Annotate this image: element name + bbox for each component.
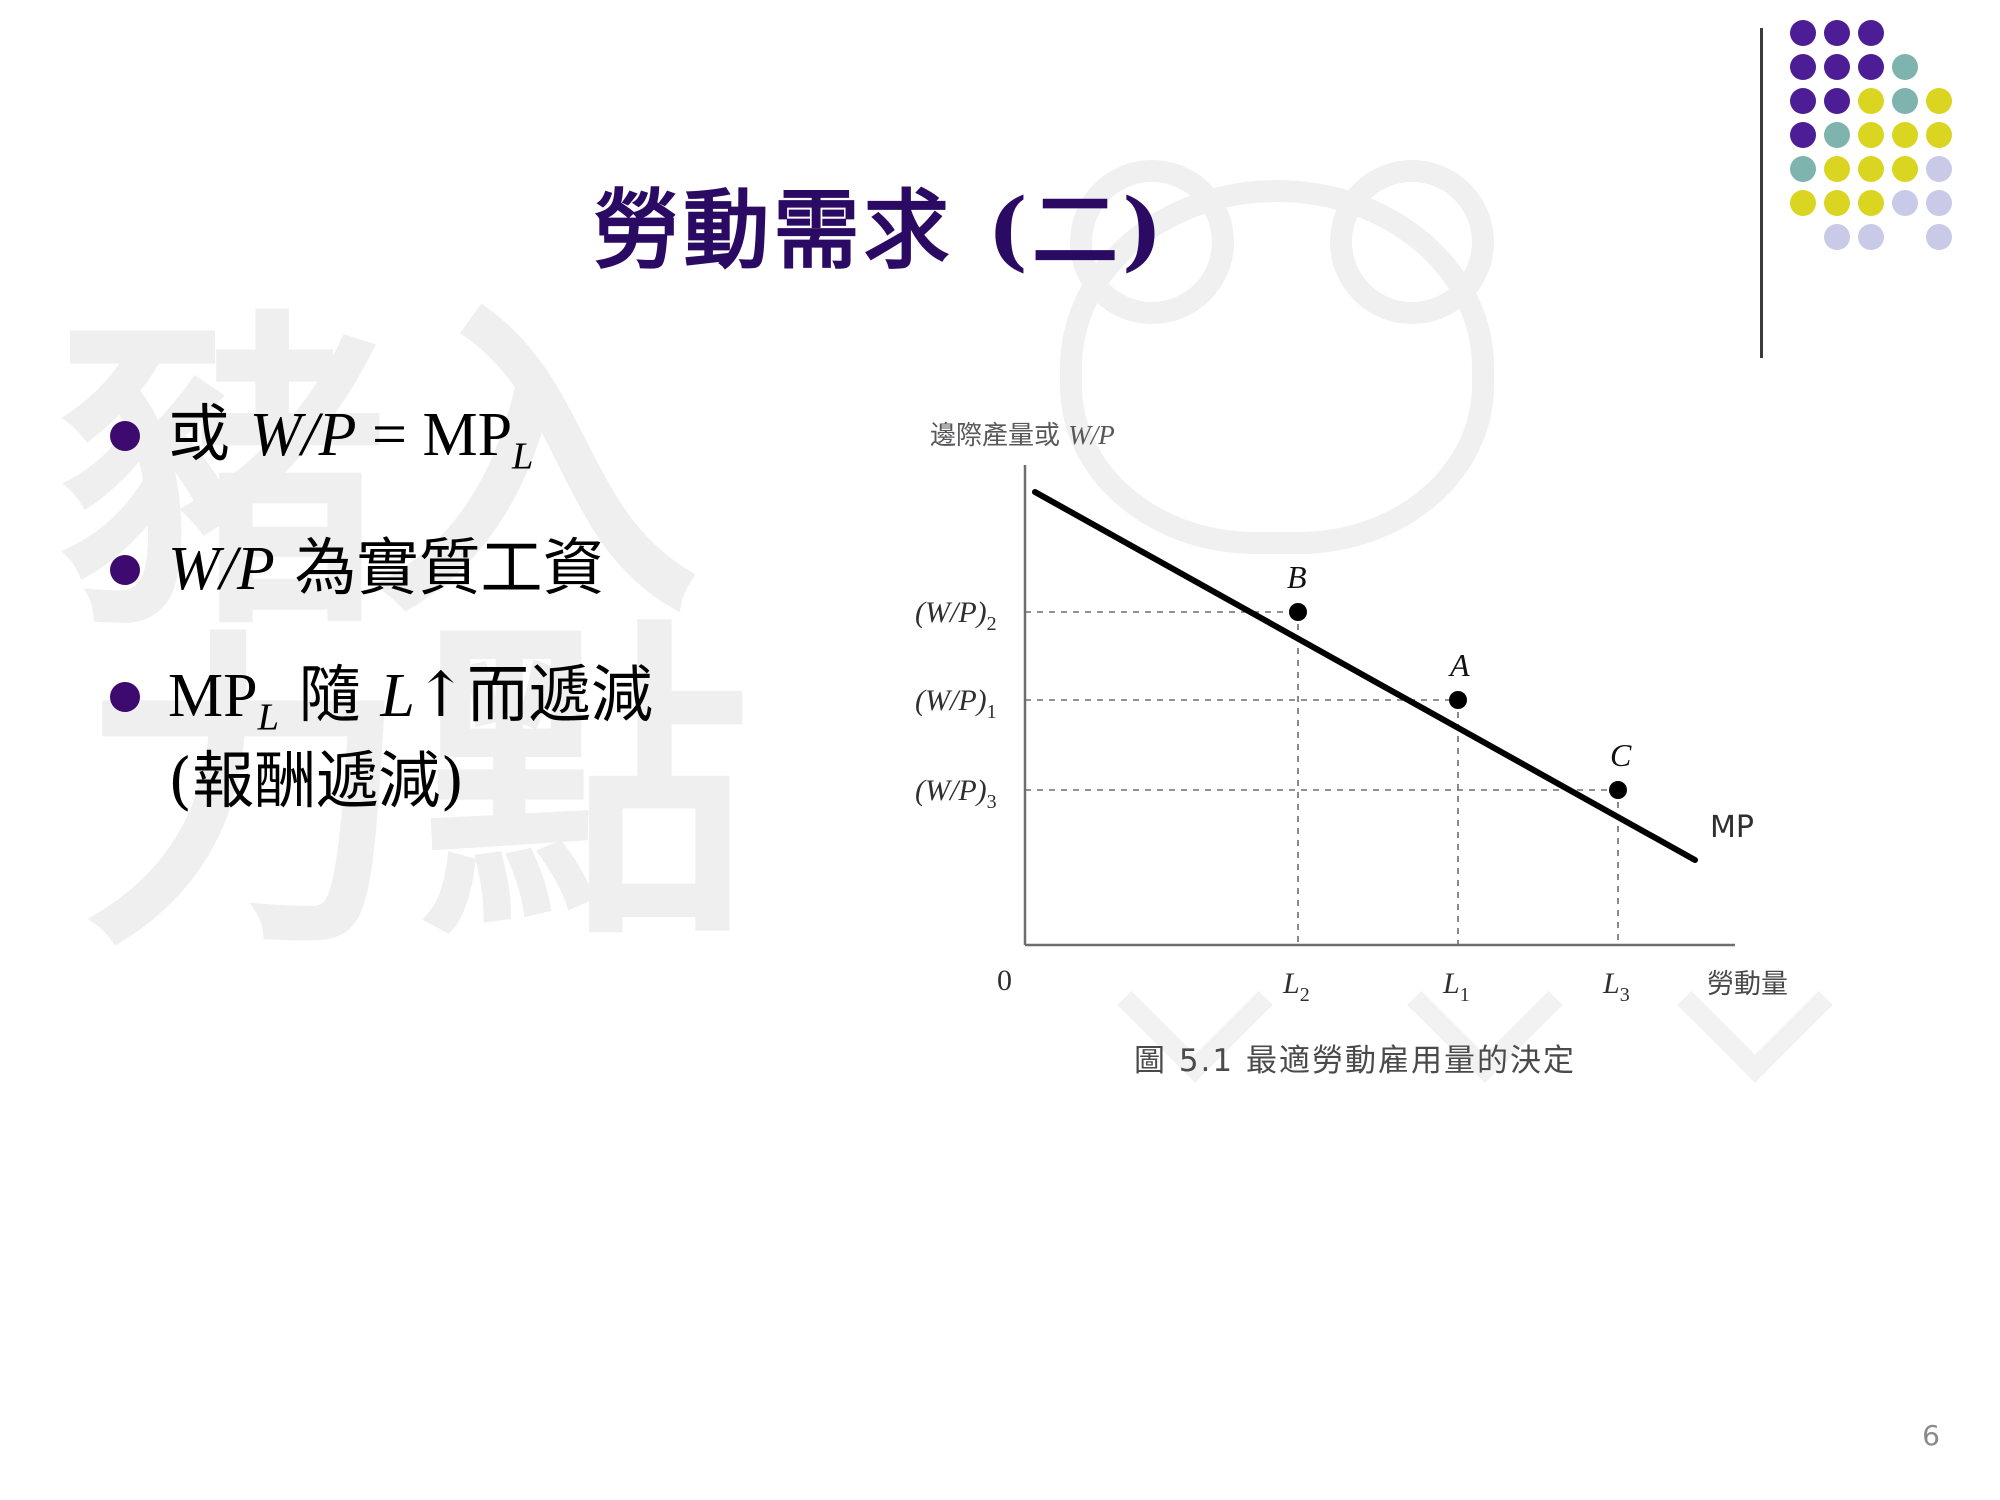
bullet-1-variable: W/P	[250, 401, 357, 469]
y-tick-label-2: (W/P)2	[915, 596, 997, 635]
data-point-c	[1609, 781, 1627, 799]
decorative-dot	[1858, 224, 1884, 250]
x-tick-sub-3: 3	[1620, 984, 1630, 1006]
bullet-3-mid: 隨	[279, 658, 380, 731]
decorative-dot	[1858, 156, 1884, 182]
data-point-a	[1449, 691, 1467, 709]
x-tick-sub-2: 2	[1300, 984, 1310, 1006]
decorative-dot	[1790, 20, 1816, 46]
data-point-b	[1289, 603, 1307, 621]
origin-label: 0	[997, 964, 1012, 997]
y-tick-base-2: (W/P)	[915, 596, 987, 629]
bullet-item-3-text: MPL 隨 L↑而遞減 (報酬遞減)	[168, 656, 653, 820]
bullet-3-mp: MP	[168, 662, 258, 730]
decorative-dot	[1824, 122, 1850, 148]
curve-label-mp: MP	[1710, 810, 1754, 845]
decorative-dot	[1892, 190, 1918, 216]
decorative-dot	[1790, 156, 1816, 182]
decorative-dot	[1858, 122, 1884, 148]
decorative-dot	[1824, 224, 1850, 250]
decorative-dot	[1824, 54, 1850, 80]
y-tick-base-3: (W/P)	[915, 774, 987, 807]
decorative-dot	[1790, 190, 1816, 216]
x-tick-base-3: L	[1602, 967, 1620, 1000]
decorative-dot-grid	[1790, 20, 1980, 320]
bullet-1-mp: MP	[422, 401, 512, 469]
data-point-label-b: B	[1287, 559, 1307, 595]
decorative-dot	[1892, 54, 1918, 80]
bullet-3-second-line: (報酬遞減)	[168, 742, 653, 820]
x-tick-label-2: L2	[1282, 967, 1310, 1006]
bullet-dot-icon	[110, 682, 140, 712]
mp-curve	[1035, 492, 1695, 860]
bullet-list: 或 W/P = MPL W/P 為實質工資 MPL 隨 L↑而遞減 (報酬遞減)	[110, 395, 870, 868]
x-tick-label-3: L3	[1602, 967, 1630, 1006]
y-tick-sub-3: 3	[987, 791, 997, 813]
decorative-dot	[1790, 54, 1816, 80]
decorative-dot	[1824, 88, 1850, 114]
figure-plot-area: B A C MP (W/P)2 (W/P)1 (W/P)3 0 L2 L1	[905, 445, 1805, 1045]
bullet-1-mp-subscript: L	[512, 435, 533, 477]
decorative-dot	[1926, 224, 1952, 250]
decorative-dot	[1926, 122, 1952, 148]
decorative-dot	[1926, 190, 1952, 216]
bullet-dot-icon	[110, 555, 140, 585]
bullet-3-variable: L	[380, 662, 414, 730]
decorative-dot	[1824, 156, 1850, 182]
decorative-dot	[1858, 54, 1884, 80]
bullet-1-lead: 或	[168, 397, 250, 470]
list-item: W/P 為實質工資	[110, 529, 870, 608]
bullet-3-tail: ↑而遞減	[415, 658, 653, 731]
bullet-item-1-text: 或 W/P = MPL	[168, 395, 533, 481]
decorative-dot	[1892, 156, 1918, 182]
figure-caption: 圖 5.1 最適勞動雇用量的決定	[905, 1035, 1805, 1080]
list-item: MPL 隨 L↑而遞減 (報酬遞減)	[110, 656, 870, 820]
x-tick-label-1: L1	[1442, 967, 1470, 1006]
decorative-dot	[1926, 88, 1952, 114]
data-point-label-a: A	[1448, 647, 1470, 683]
decorative-dot	[1824, 190, 1850, 216]
decorative-dot	[1858, 20, 1884, 46]
y-tick-sub-2: 2	[987, 613, 997, 635]
decorative-dot	[1926, 156, 1952, 182]
y-tick-label-3: (W/P)3	[915, 774, 997, 813]
decorative-dot	[1824, 20, 1850, 46]
decorative-dot	[1790, 88, 1816, 114]
y-tick-label-1: (W/P)1	[915, 684, 997, 723]
x-tick-base-1: L	[1442, 967, 1460, 1000]
bullet-2-variable: W/P	[168, 535, 275, 603]
figure-labour-demand: 邊際產量或 W/P B A C MP	[905, 415, 1805, 1115]
bullet-1-equals: =	[356, 401, 422, 469]
decorative-dot	[1858, 88, 1884, 114]
decorative-dot	[1858, 190, 1884, 216]
figure-x-axis-label: 勞動量	[1707, 969, 1788, 1000]
list-item: 或 W/P = MPL	[110, 395, 870, 481]
x-tick-sub-1: 1	[1460, 984, 1470, 1006]
decorative-dot	[1892, 88, 1918, 114]
y-tick-sub-1: 1	[987, 701, 997, 723]
slide-root: 豬 入 力 點 勞動需求 (二) 或 W/P = MPL W/P 為實質工資	[0, 0, 2000, 1500]
x-tick-base-2: L	[1282, 967, 1300, 1000]
decorative-dot	[1892, 122, 1918, 148]
y-tick-base-1: (W/P)	[915, 684, 987, 717]
bullet-dot-icon	[110, 421, 140, 451]
page-title: 勞動需求 (二)	[0, 160, 1760, 285]
header-divider	[1760, 28, 1763, 358]
bullet-2-rest: 為實質工資	[275, 531, 605, 604]
bullet-3-mp-subscript: L	[258, 696, 279, 738]
bullet-item-2-text: W/P 為實質工資	[168, 529, 604, 608]
page-number: 6	[1922, 1419, 1940, 1452]
data-point-label-c: C	[1610, 737, 1632, 773]
decorative-dot	[1790, 122, 1816, 148]
